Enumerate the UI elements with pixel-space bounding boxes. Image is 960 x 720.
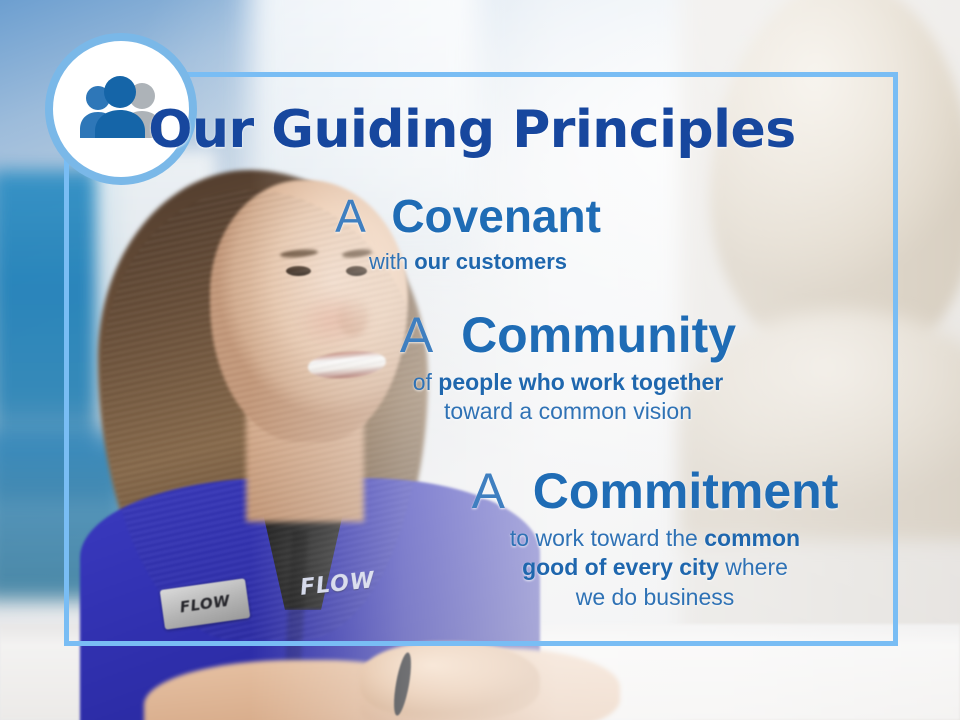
description-line: to work toward the common <box>430 524 880 553</box>
description-line: of people who work together <box>353 368 783 397</box>
principle-lead-word: A <box>472 463 519 519</box>
principle-key-word: Covenant <box>391 190 601 242</box>
description-line: toward a common vision <box>353 397 783 426</box>
description-text: we do business <box>576 584 735 610</box>
principle-title: A Community <box>353 308 783 362</box>
principle-commitment: A Commitment to work toward the common g… <box>430 464 880 612</box>
principle-covenant: A Covenant with our customers <box>303 192 633 276</box>
description-line: with our customers <box>303 248 633 276</box>
description-text: with <box>369 249 414 274</box>
principle-lead-word: A <box>400 307 447 363</box>
description-emphasis: people who work together <box>438 369 723 395</box>
page-title: Our Guiding Principles <box>64 100 880 160</box>
principle-lead-word: A <box>335 190 378 242</box>
description-text: toward a common vision <box>444 398 692 424</box>
description-text: of <box>413 369 439 395</box>
principle-description: with our customers <box>303 248 633 276</box>
description-emphasis: our customers <box>414 249 567 274</box>
principle-description: of people who work together toward a com… <box>353 368 783 427</box>
description-text-after: where <box>719 554 788 580</box>
principle-key-word: Community <box>461 307 736 363</box>
description-text: to work toward the <box>510 525 704 551</box>
principle-community: A Community of people who work together … <box>353 308 783 427</box>
principle-description: to work toward the common good of every … <box>430 524 880 612</box>
description-line: we do business <box>430 583 880 612</box>
guiding-principles-graphic: FLOW FLOW O <box>0 0 960 720</box>
principle-title: A Covenant <box>303 192 633 242</box>
principle-key-word: Commitment <box>533 463 839 519</box>
description-line: good of every city where <box>430 553 880 582</box>
description-emphasis: common <box>704 525 800 551</box>
principle-title: A Commitment <box>430 464 880 518</box>
principles-content: Our Guiding Principles A Covenant with o… <box>64 72 898 646</box>
description-emphasis: good of every city <box>522 554 719 580</box>
